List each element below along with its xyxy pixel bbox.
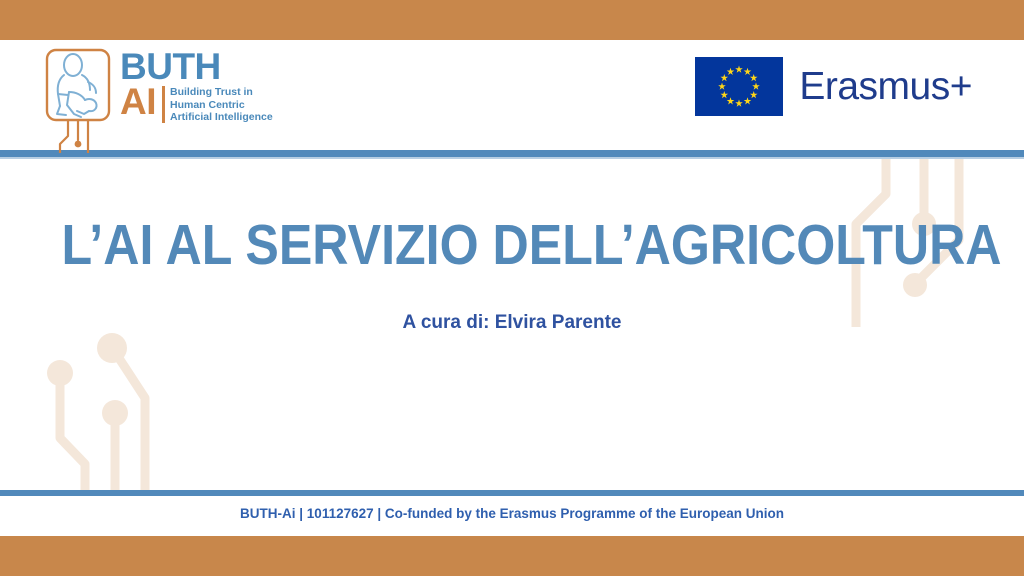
european-union-flag-icon [695,57,783,116]
logo-buth-text: BUTH [120,50,273,84]
top-brand-band [0,0,1024,40]
author-subtitle: A cura di: Elvira Parente [0,310,1024,336]
buth-ai-logo: BUTH AI Building Trust in Human Centric … [44,48,273,126]
logo-tagline-accent-bar [162,86,165,123]
erasmus-wordmark: Erasmus+ [799,67,972,107]
bottom-brand-band [0,536,1024,576]
logo-tagline-line-1: Building Trust in [170,86,273,99]
buth-ai-wordmark: BUTH AI Building Trust in Human Centric … [120,48,273,124]
buth-logo-mark-icon [44,48,112,126]
erasmus-plus-logo: Erasmus+ [695,57,972,116]
presentation-slide: BUTH AI Building Trust in Human Centric … [0,0,1024,576]
footer-divider-rule [0,490,1024,496]
logo-tagline: Building Trust in Human Centric Artifici… [170,85,273,124]
slide-header: BUTH AI Building Trust in Human Centric … [0,40,1024,150]
footer-credit-text: BUTH-Ai | 101127627 | Co-funded by the E… [0,505,1024,523]
logo-tagline-line-2: Human Centric [170,99,273,112]
circuit-decoration-bottom-left [20,330,195,492]
logo-ai-text: AI [120,85,156,119]
header-divider-rule [0,150,1024,157]
logo-tagline-line-3: Artificial Intelligence [170,111,273,124]
page-title: L’AI AL SERVIZIO DELL’AGRICOLTURA [61,213,962,277]
